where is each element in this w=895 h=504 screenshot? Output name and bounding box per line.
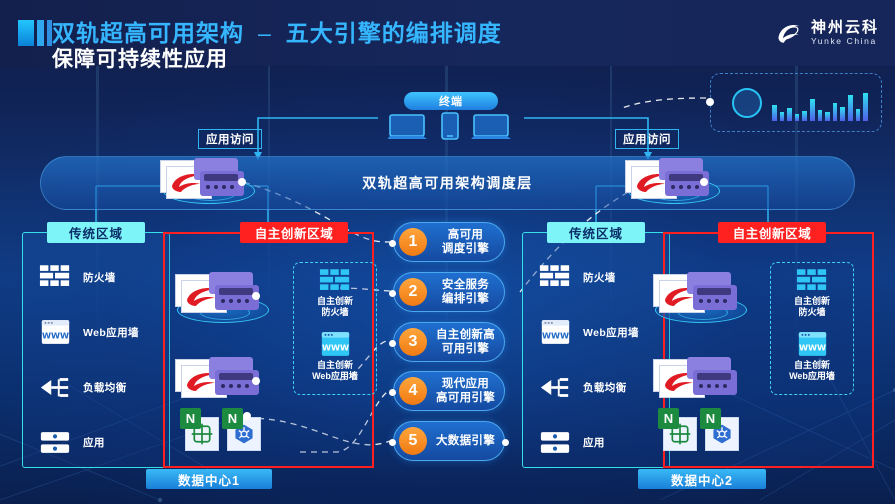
engine-label: 自主创新高可用引擎	[427, 328, 504, 356]
tz2-item-lb: 负载均衡	[538, 372, 627, 402]
scheduler-server-left	[160, 158, 238, 200]
iz2-fw-line2: 防火墙	[770, 307, 854, 318]
bigdata-connector-dot	[706, 98, 714, 106]
engine-connector-dot-left	[389, 290, 396, 297]
waf-www-icon: WWW	[293, 330, 377, 358]
iz2-nginx-badge-1: N	[658, 408, 679, 429]
logo-name-cn: 神州云科	[811, 20, 879, 36]
firewall-icon	[293, 268, 377, 295]
tz1-label-waf: Web应用墙	[83, 325, 139, 340]
slide-canvas: 双轨超高可用架构–五大引擎的编排调度 保障可持续性应用 神州云科 Yunke C…	[0, 0, 895, 504]
tz1-item-lb: 负载均衡	[38, 372, 127, 402]
iz1-service-caption-waf: 自主创新 Web应用墙	[293, 360, 377, 383]
iz2-waf-line2: Web应用墙	[770, 371, 854, 382]
waf-www-icon: WWW	[770, 330, 854, 358]
iz1-fw-line1: 自主创新	[293, 296, 377, 307]
traditional-zone-tab-dc2: 传统区域	[547, 222, 645, 243]
application-icon	[38, 427, 72, 457]
engine-number-badge: 5	[399, 427, 427, 455]
donut-chart-icon	[732, 88, 762, 118]
traditional-zone-tab-dc1: 传统区域	[47, 222, 145, 243]
iz1-waf-line1: 自主创新	[293, 360, 377, 371]
engine-connector-dot-right	[502, 439, 509, 446]
svg-text:WWW: WWW	[541, 330, 568, 340]
access-label-right: 应用访问	[615, 129, 679, 149]
bar-chart-icon	[772, 85, 868, 121]
innovation-zone-tab-dc2: 自主创新区域	[718, 222, 826, 243]
tz1-item-firewall: 防火墙	[38, 262, 116, 292]
iz1-server-top-dot	[252, 292, 260, 300]
slide-header: 双轨超高可用架构–五大引擎的编排调度 保障可持续性应用 神州云科 Yunke C…	[0, 0, 895, 66]
iz2-server-top	[653, 272, 731, 314]
engine-label-line1: 现代应用	[427, 377, 504, 391]
application-icon	[538, 427, 572, 457]
engine-pill-1[interactable]: 1高可用调度引擎	[393, 222, 505, 262]
header-accent-bars-icon	[18, 20, 52, 46]
iz2-fw-line1: 自主创新	[770, 296, 854, 307]
engine-number-badge: 3	[399, 328, 427, 356]
scheduler-connector-dot-left	[238, 178, 246, 186]
tz1-item-waf: WWW Web应用墙	[38, 317, 139, 347]
engine-label-line1: 大数据引擎	[427, 434, 504, 448]
engine-pill-2[interactable]: 2安全服务编排引擎	[393, 272, 505, 312]
engine-label-line1: 安全服务	[427, 278, 504, 292]
tz2-label-app: 应用	[583, 435, 605, 450]
iz2-service-caption-waf: 自主创新 Web应用墙	[770, 360, 854, 383]
engine-connector-dot-left	[389, 340, 396, 347]
iz2-nginx-badge-2: N	[700, 408, 721, 429]
engine-connector-dot-left	[389, 240, 396, 247]
title-dash: –	[244, 20, 286, 46]
tz1-label-app: 应用	[83, 435, 105, 450]
firewall-icon	[538, 262, 572, 292]
waf-www-icon: WWW	[38, 317, 72, 347]
engine-pill-5[interactable]: 5大数据引擎	[393, 421, 505, 461]
iz1-tile-connector-dot	[243, 412, 251, 420]
tz1-label-firewall: 防火墙	[83, 270, 116, 285]
tz1-item-app: 应用	[38, 427, 105, 457]
firewall-icon	[770, 268, 854, 295]
terminal-devices-icon-group	[388, 112, 514, 142]
engine-connector-dot-left	[389, 389, 396, 396]
waf-www-icon: WWW	[538, 317, 572, 347]
engine-label-line2: 调度引擎	[427, 242, 504, 256]
scheduler-connector-dot-right	[700, 178, 708, 186]
iz2-service-caption-firewall: 自主创新 防火墙	[770, 296, 854, 319]
iz1-server-bottom	[175, 357, 253, 399]
engine-label: 安全服务编排引擎	[427, 278, 504, 306]
datacenter-2-label: 数据中心2	[638, 469, 766, 489]
logo-name-en: Yunke China	[811, 36, 879, 46]
engine-label: 大数据引擎	[427, 434, 504, 448]
svg-text:WWW: WWW	[798, 342, 825, 352]
iz2-server-bottom	[653, 357, 731, 399]
access-label-left: 应用访问	[198, 129, 262, 149]
terminal-label: 终端	[404, 92, 498, 110]
iz1-service-caption-firewall: 自主创新 防火墙	[293, 296, 377, 319]
engine-label-line2: 编排引擎	[427, 292, 504, 306]
page-title-line2: 保障可持续性应用	[52, 43, 228, 73]
iz1-server-bottom-dot	[252, 377, 260, 385]
tz2-item-firewall: 防火墙	[538, 262, 616, 292]
engine-connector-dot-left	[389, 439, 396, 446]
iz2-waf-line1: 自主创新	[770, 360, 854, 371]
engine-number-badge: 4	[399, 377, 427, 405]
innovation-zone-tab-dc1: 自主创新区域	[240, 222, 348, 243]
yunke-swirl-icon	[774, 18, 804, 48]
iz1-server-top	[175, 272, 253, 314]
tz2-label-firewall: 防火墙	[583, 270, 616, 285]
engine-label-line1: 高可用	[427, 228, 504, 242]
scheduler-server-right	[625, 158, 703, 200]
tz2-label-lb: 负载均衡	[583, 380, 627, 395]
engine-label-line1: 自主创新高	[427, 328, 504, 342]
company-logo: 神州云科 Yunke China	[774, 18, 879, 48]
load-balancer-icon	[538, 372, 572, 402]
engine-label-line2: 高可用引擎	[427, 391, 504, 405]
iz1-nginx-badge-2: N	[222, 408, 243, 429]
title-part-b: 五大引擎的编排调度	[286, 20, 502, 46]
engine-label-line2: 可用引擎	[427, 342, 504, 356]
tz2-label-waf: Web应用墙	[583, 325, 639, 340]
datacenter-1-label: 数据中心1	[146, 469, 272, 489]
iz1-waf-line2: Web应用墙	[293, 371, 377, 382]
engine-label: 现代应用高可用引擎	[427, 377, 504, 405]
engine-number-badge: 1	[399, 228, 427, 256]
iz1-nginx-badge-1: N	[180, 408, 201, 429]
firewall-icon	[38, 262, 72, 292]
tz2-item-app: 应用	[538, 427, 605, 457]
engine-label: 高可用调度引擎	[427, 228, 504, 256]
engine-pill-3[interactable]: 3自主创新高可用引擎	[393, 322, 505, 362]
svg-text:WWW: WWW	[41, 330, 68, 340]
iz1-fw-line2: 防火墙	[293, 307, 377, 318]
engine-number-badge: 2	[399, 278, 427, 306]
engine-pill-4[interactable]: 4现代应用高可用引擎	[393, 371, 505, 411]
tz1-label-lb: 负载均衡	[83, 380, 127, 395]
svg-text:WWW: WWW	[321, 342, 348, 352]
load-balancer-icon	[38, 372, 72, 402]
tz2-item-waf: WWW Web应用墙	[538, 317, 639, 347]
